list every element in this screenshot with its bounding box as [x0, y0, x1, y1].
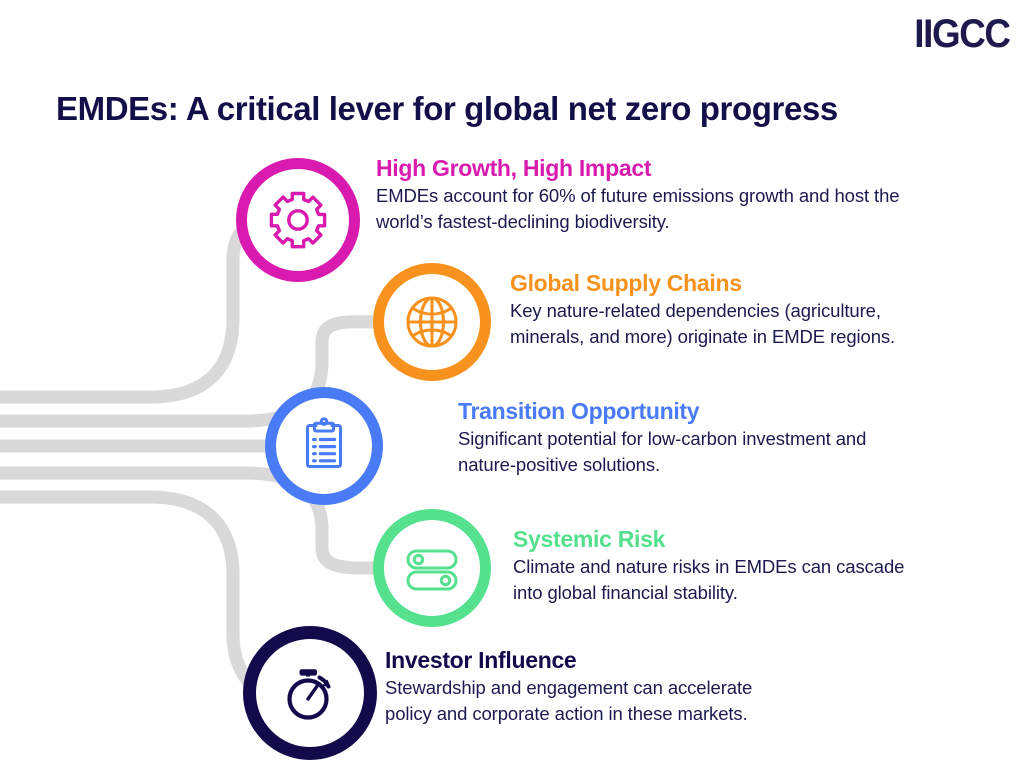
stopwatch-icon [277, 660, 343, 726]
item-body-line-2: nature-positive solutions. [458, 452, 866, 478]
item-body-line-1: Climate and nature risks in EMDEs can ca… [513, 554, 904, 580]
item-text-high-growth-high-impact: High Growth, High Impact EMDEs account f… [376, 156, 899, 235]
item-text-transition-opportunity: Transition Opportunity Significant poten… [458, 399, 866, 478]
item-body-line-1: Key nature-related dependencies (agricul… [510, 298, 895, 324]
globe-icon [402, 292, 462, 352]
node-transition-opportunity[interactable] [265, 387, 383, 505]
item-text-investor-influence: Investor Influence Stewardship and engag… [385, 648, 752, 727]
item-heading: Systemic Risk [513, 527, 904, 553]
item-heading: Investor Influence [385, 648, 752, 674]
item-text-systemic-risk: Systemic Risk Climate and nature risks i… [513, 527, 904, 606]
connector-track-5 [0, 497, 253, 690]
item-body-line-1: EMDEs account for 60% of future emission… [376, 183, 899, 209]
clipboard-checklist-icon [295, 417, 353, 475]
item-body-line-2: into global financial stability. [513, 580, 904, 606]
item-body: EMDEs account for 60% of future emission… [376, 183, 899, 236]
item-body-line-1: Stewardship and engagement can accelerat… [385, 675, 752, 701]
item-body: Climate and nature risks in EMDEs can ca… [513, 554, 904, 607]
item-body-line-2: policy and corporate action in these mar… [385, 701, 752, 727]
server-stack-icon [401, 537, 463, 599]
item-body: Significant potential for low-carbon inv… [458, 426, 866, 479]
item-body-line-1: Significant potential for low-carbon inv… [458, 426, 866, 452]
node-investor-influence[interactable] [243, 626, 377, 760]
node-high-growth-high-impact[interactable] [236, 158, 360, 282]
item-body: Key nature-related dependencies (agricul… [510, 298, 895, 351]
item-text-global-supply-chains: Global Supply Chains Key nature-related … [510, 271, 895, 350]
gear-icon [266, 188, 330, 252]
item-heading: Transition Opportunity [458, 399, 866, 425]
item-body: Stewardship and engagement can accelerat… [385, 675, 752, 728]
item-heading: Global Supply Chains [510, 271, 895, 297]
node-global-supply-chains[interactable] [373, 263, 491, 381]
item-body-line-2: world’s fastest-declining biodiversity. [376, 209, 899, 235]
item-body-line-2: minerals, and more) originate in EMDE re… [510, 324, 895, 350]
item-heading: High Growth, High Impact [376, 156, 899, 182]
node-systemic-risk[interactable] [373, 509, 491, 627]
